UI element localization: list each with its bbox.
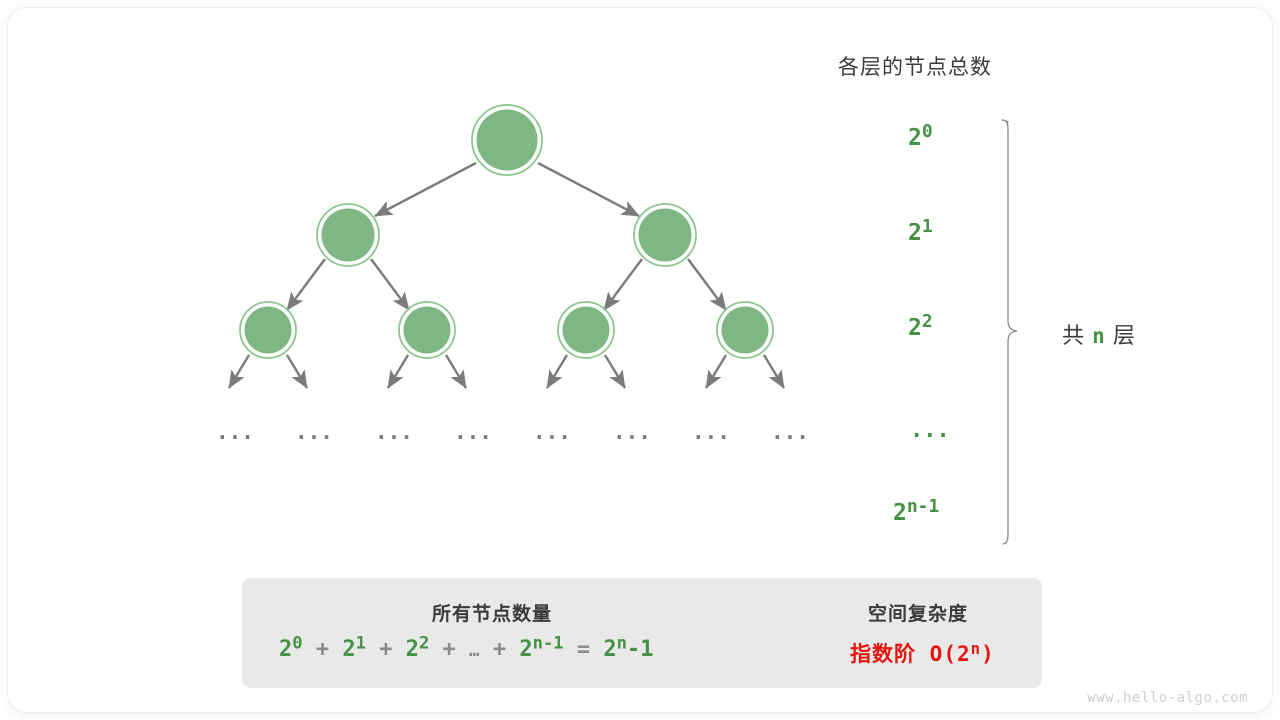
total-layers-variable: n xyxy=(1092,324,1106,348)
summary-right-title: 空间复杂度 xyxy=(868,599,968,626)
watermark: www.hello-algo.com xyxy=(1087,690,1248,706)
level-label-0: 20 xyxy=(908,125,933,151)
tree-ellipsis: ... xyxy=(533,420,571,444)
total-layers-label: 共 n 层 xyxy=(1062,318,1136,350)
levels-panel-title: 各层的节点总数 xyxy=(838,51,992,81)
tree-ellipsis: ... xyxy=(216,420,254,444)
tree-ellipsis: ... xyxy=(771,420,809,444)
tree-ellipsis: ... xyxy=(454,420,492,444)
summary-left-title: 所有节点数量 xyxy=(432,599,552,626)
level-label-2: 22 xyxy=(908,315,933,341)
node-count-formula: 20 + 21 + 22 + … + 2n-1 = 2n-1 xyxy=(279,637,653,662)
tree-ellipsis: ... xyxy=(295,420,333,444)
level-label-ellipsis: ... xyxy=(910,418,950,443)
level-label-1: 21 xyxy=(908,220,933,246)
tree-ellipsis: ... xyxy=(692,420,730,444)
tree-ellipsis: ... xyxy=(613,420,651,444)
space-complexity-value: 指数阶 O(2n) xyxy=(850,638,995,668)
figure-canvas: 各层的节点总数 20 21 22 ... 2n-1 共 n 层 ... ... … xyxy=(0,0,1280,720)
tree-ellipsis: ... xyxy=(375,420,413,444)
level-label-n-1: 2n-1 xyxy=(893,500,939,526)
